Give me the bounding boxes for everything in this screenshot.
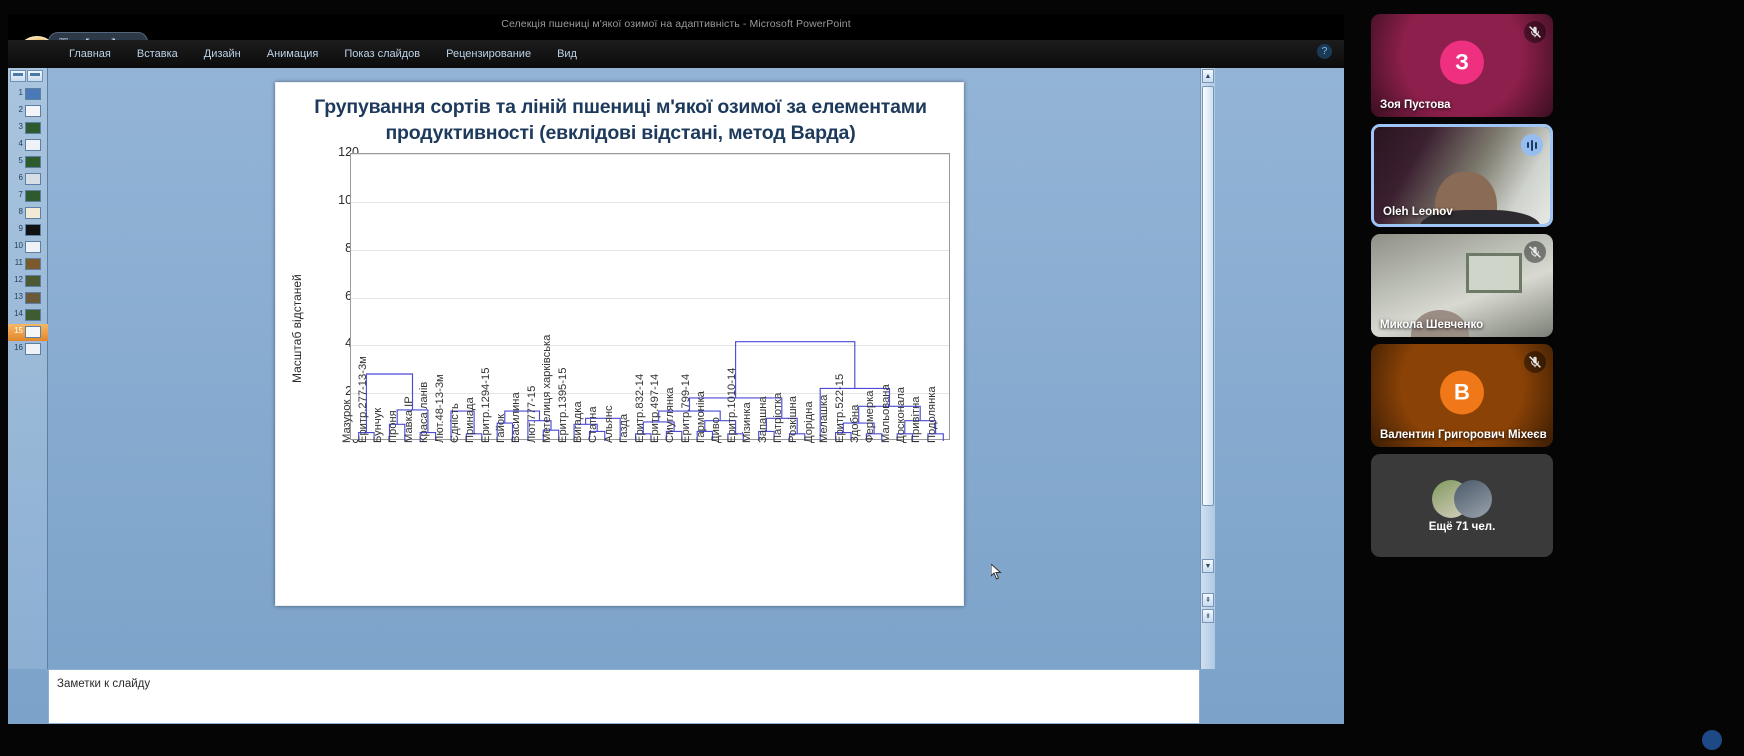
- leaf-label: Вигадка: [572, 401, 584, 443]
- thumbnail-number: 16: [11, 343, 23, 352]
- leaf-label: Альянс: [603, 405, 615, 443]
- leaf-label: Еритр.832-14: [634, 374, 646, 443]
- thumbnail-slide-11[interactable]: 11: [8, 256, 48, 273]
- leaf-label: Смуглянка: [664, 388, 676, 443]
- more-participants-avatars: [1432, 480, 1492, 518]
- scrollbar-thumb[interactable]: [1202, 86, 1214, 506]
- slide-title: Групування сортів та ліній пшениці м'яко…: [290, 95, 951, 147]
- taskbar-indicator-icon: [1702, 730, 1722, 750]
- leaf-label: Подолянка: [926, 386, 938, 443]
- thumbnail-number: 2: [11, 105, 23, 114]
- leaf-label: Мелашка: [818, 395, 830, 443]
- tab-design[interactable]: Дизайн: [191, 44, 254, 64]
- video-background-object: [1466, 253, 1522, 293]
- leaf-label: Мавка ІР: [403, 396, 415, 443]
- leaf-label: Привітна: [910, 397, 922, 443]
- thumbnail-preview: [25, 122, 41, 134]
- thumbnail-pane-tabs: [10, 70, 43, 82]
- thumbnail-slide-10[interactable]: 10: [8, 239, 48, 256]
- thumbnail-number: 3: [11, 122, 23, 131]
- more-participants-tile[interactable]: Ещё 71 чел.: [1371, 454, 1553, 557]
- leaf-label: Патріотка: [772, 393, 784, 443]
- tab-insert[interactable]: Вставка: [124, 44, 191, 64]
- thumbnail-number: 13: [11, 292, 23, 301]
- leaf-label: Василина: [510, 392, 522, 443]
- leaf-label: Принада: [464, 397, 476, 443]
- microphone-muted-icon: [1524, 241, 1546, 263]
- help-icon[interactable]: ?: [1317, 44, 1332, 59]
- thumbnail-slide-14[interactable]: 14: [8, 307, 48, 324]
- avatar: З: [1440, 40, 1484, 84]
- thumbnail-preview: [25, 224, 41, 236]
- notes-pane[interactable]: Заметки к слайду: [48, 669, 1200, 724]
- participant-name: Валентин Григорович Міхеєв: [1380, 429, 1547, 441]
- thumbnail-slide-5[interactable]: 5: [8, 154, 48, 171]
- x-axis-leaf-labels: МазурокЕритр.277-13-3мБунчукПроняМавка І…: [350, 441, 950, 605]
- microphone-muted-icon: [1524, 351, 1546, 373]
- title-bar: Селекція пшениці м'якої озимої на адапти…: [8, 14, 1344, 40]
- thumbnail-preview: [25, 173, 41, 185]
- work-surface: 12345678910111213141516 Групування сорті…: [8, 68, 1344, 724]
- leaf-label: Еритр.1395-15: [557, 368, 569, 443]
- thumbnail-preview: [25, 139, 41, 151]
- microphone-muted-icon: [1524, 21, 1546, 43]
- leaf-label: Дорідна: [803, 401, 815, 443]
- leaf-label: Бунчук: [372, 408, 384, 443]
- leaf-label: Краса ланів: [418, 382, 430, 443]
- thumbnail-number: 9: [11, 224, 23, 233]
- leaf-label: Газда: [618, 414, 630, 443]
- notes-placeholder: Заметки к слайду: [57, 678, 150, 690]
- thumbnail-number: 6: [11, 173, 23, 182]
- participant-tile[interactable]: В Валентин Григорович Міхеєв: [1371, 344, 1553, 447]
- thumbnail-slide-15[interactable]: 15: [8, 324, 48, 341]
- thumbnail-slide-4[interactable]: 4: [8, 137, 48, 154]
- thumbnail-slide-7[interactable]: 7: [8, 188, 48, 205]
- leaf-label: Мазурок: [341, 400, 353, 443]
- speaking-indicator-icon: [1521, 134, 1543, 156]
- thumbnail-number: 4: [11, 139, 23, 148]
- mouse-cursor-icon: [991, 564, 1002, 580]
- slides-tab-icon[interactable]: [10, 70, 26, 82]
- leaf-label: Гармоніка: [695, 391, 707, 443]
- thumbnail-slide-9[interactable]: 9: [8, 222, 48, 239]
- slide-scrollbar[interactable]: ▲ ▼ ⇞ ⇟: [1200, 68, 1215, 669]
- participant-name: Oleh Leonov: [1383, 206, 1453, 218]
- thumbnail-slide-12[interactable]: 12: [8, 273, 48, 290]
- thumbnail-preview: [25, 309, 41, 321]
- thumbnail-preview: [25, 292, 41, 304]
- powerpoint-window: Селекція пшениці м'якої озимої на адапти…: [8, 14, 1344, 724]
- window-title: Селекція пшениці м'якої озимої на адапти…: [501, 18, 850, 30]
- thumbnail-slide-6[interactable]: 6: [8, 171, 48, 188]
- thumbnail-number: 8: [11, 207, 23, 216]
- leaf-label: Еритр.277-13-3м: [357, 356, 369, 443]
- leaf-label: Метелиця харківська: [541, 335, 553, 443]
- tab-home[interactable]: Главная: [56, 44, 124, 64]
- ribbon-tabs: Главная Вставка Дизайн Анимация Показ сл…: [56, 44, 590, 64]
- leaf-label: Здобна: [849, 405, 861, 443]
- thumbnail-preview: [25, 88, 41, 100]
- thumbnail-number: 12: [11, 275, 23, 284]
- tab-slideshow[interactable]: Показ слайдов: [331, 44, 433, 64]
- thumbnail-preview: [25, 105, 41, 117]
- slide-title-line1: Групування сортів та ліній пшениці м'яко…: [314, 96, 927, 118]
- thumbnail-number: 7: [11, 190, 23, 199]
- scroll-up-icon[interactable]: ▲: [1202, 69, 1214, 83]
- y-axis-label: Масштаб відстаней: [290, 213, 304, 383]
- leaf-label: Проня: [387, 410, 399, 443]
- participant-tile[interactable]: З Зоя Пустова: [1371, 14, 1553, 117]
- leaf-label: Еритр.1010-14: [726, 368, 738, 443]
- slide-title-line2: продуктивності (евклідові відстані, мето…: [385, 122, 855, 144]
- thumbnail-preview: [25, 207, 41, 219]
- thumbnail-preview: [25, 326, 41, 338]
- leaf-label: Лют.48-13-3м: [434, 374, 446, 443]
- thumbnail-number: 15: [11, 326, 23, 335]
- thumbnail-slide-13[interactable]: 13: [8, 290, 48, 307]
- outline-tab-icon[interactable]: [27, 70, 43, 82]
- thumbnail-number: 14: [11, 309, 23, 318]
- leaf-label: Еритр.799-14: [680, 374, 692, 443]
- participant-rail: З Зоя Пустова Oleh Leonov Микола Шевченк…: [1371, 14, 1553, 756]
- participant-name: Зоя Пустова: [1380, 99, 1451, 111]
- thumbnail-preview: [25, 343, 41, 355]
- leaf-label: Еритр.522-15: [834, 374, 846, 443]
- thumbnail-number: 1: [11, 88, 23, 97]
- thumbnail-preview: [25, 258, 41, 270]
- thumbnail-slide-1[interactable]: 1: [8, 86, 48, 103]
- avatar-thumb-2: [1454, 480, 1492, 518]
- leaf-label: Гайок: [495, 414, 507, 443]
- tab-view[interactable]: Вид: [544, 44, 590, 64]
- scroll-down-icon[interactable]: ▼: [1202, 559, 1214, 573]
- leaf-label: Запашна: [757, 396, 769, 443]
- leaf-label: Еритр.1294-15: [480, 368, 492, 443]
- thumbnail-number: 11: [11, 258, 23, 267]
- dendrogram-chart: Масштаб відстаней 020406080100120 Мазуро…: [276, 153, 965, 605]
- avatar: В: [1440, 370, 1484, 414]
- previous-slide-icon[interactable]: ⇞: [1202, 593, 1214, 607]
- leaf-label: Еритр.497-14: [649, 374, 661, 443]
- thumbnail-preview: [25, 275, 41, 287]
- leaf-label: Лют.777-15: [526, 386, 538, 443]
- next-slide-icon[interactable]: ⇟: [1202, 609, 1214, 623]
- thumbnail-number: 10: [11, 241, 23, 250]
- leaf-label: Розкішна: [787, 396, 799, 443]
- thumbnail-slide-2[interactable]: 2: [8, 103, 48, 120]
- leaf-label: Мальована: [880, 384, 892, 443]
- leaf-label: Статна: [587, 406, 599, 443]
- thumbnail-slide-3[interactable]: 3: [8, 120, 48, 137]
- leaf-label: Диво: [710, 417, 722, 443]
- leaf-label: Досконала: [895, 387, 907, 443]
- screen: Селекція пшениці м'якої озимої на адапти…: [0, 0, 1744, 756]
- thumbnail-number: 5: [11, 156, 23, 165]
- thumbnail-slide-8[interactable]: 8: [8, 205, 48, 222]
- slide-canvas[interactable]: Групування сортів та ліній пшениці м'яко…: [275, 82, 964, 606]
- tab-review[interactable]: Рецензирование: [433, 44, 544, 64]
- tab-animation[interactable]: Анимация: [254, 44, 332, 64]
- slide-thumbnail-pane[interactable]: 12345678910111213141516: [8, 68, 48, 669]
- leaf-label: Фермерка: [864, 391, 876, 443]
- thumbnail-preview: [25, 190, 41, 202]
- more-participants-label: Ещё 71 чел.: [1371, 521, 1553, 533]
- thumbnail-preview: [25, 156, 41, 168]
- thumbnail-preview: [25, 241, 41, 253]
- participant-name: Микола Шевченко: [1380, 319, 1483, 331]
- leaf-label: Мізинка: [741, 402, 753, 443]
- participant-tile[interactable]: Микола Шевченко: [1371, 234, 1553, 337]
- participant-tile[interactable]: Oleh Leonov: [1371, 124, 1553, 227]
- leaf-label: Єдність: [449, 403, 461, 443]
- thumbnail-slide-16[interactable]: 16: [8, 341, 48, 358]
